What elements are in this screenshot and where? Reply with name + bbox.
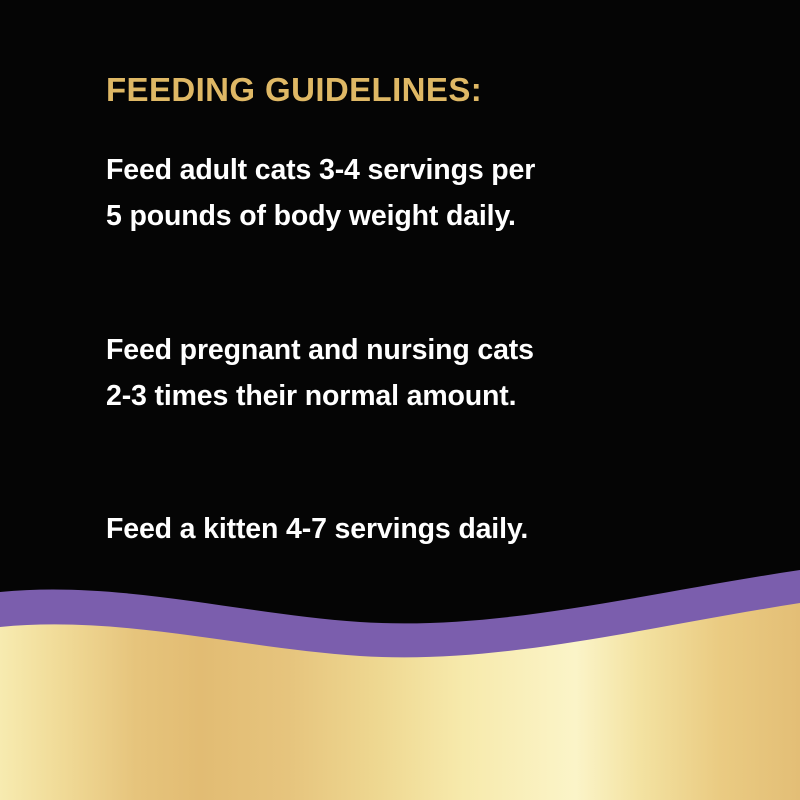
bottom-wave-banner <box>0 570 800 800</box>
guideline-line: Feed adult cats 3-4 servings per <box>106 147 740 193</box>
guideline-paragraph-pregnant-nursing-cats: Feed pregnant and nursing cats 2-3 times… <box>106 327 740 419</box>
page-title: FEEDING GUIDELINES: <box>106 72 740 109</box>
guideline-line: Feed a kitten 4-7 servings daily. <box>106 506 740 552</box>
paragraph-spacer <box>106 420 740 506</box>
guideline-line: Feed pregnant and nursing cats <box>106 327 740 373</box>
guideline-line: 5 pounds of body weight daily. <box>106 193 740 239</box>
paragraph-spacer <box>106 239 740 327</box>
guideline-paragraph-adult-cats: Feed adult cats 3-4 servings per 5 pound… <box>106 147 740 239</box>
guideline-paragraph-kitten: Feed a kitten 4-7 servings daily. <box>106 506 740 552</box>
text-content-block: FEEDING GUIDELINES: Feed adult cats 3-4 … <box>0 0 800 552</box>
guideline-line: 2-3 times their normal amount. <box>106 373 740 419</box>
feeding-guidelines-panel: FEEDING GUIDELINES: Feed adult cats 3-4 … <box>0 0 800 800</box>
